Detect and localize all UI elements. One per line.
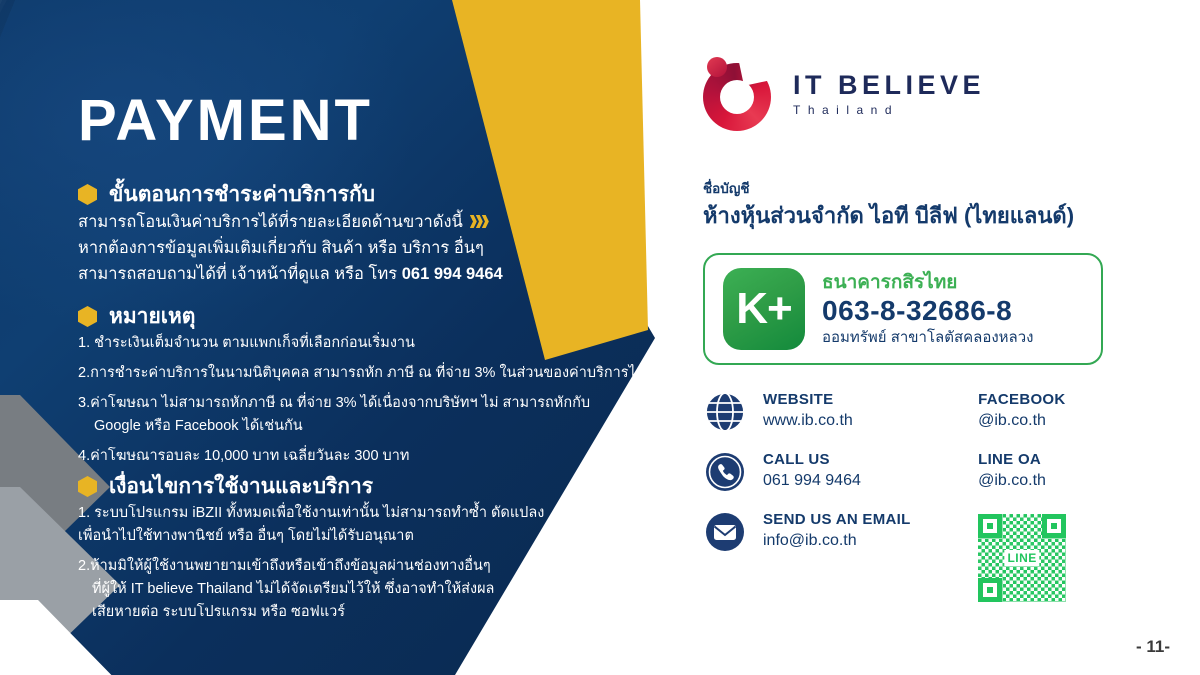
list-item: 2.ห้ามมิให้ผู้ใช้งานพยายามเข้าถึงหรือเข้… — [78, 555, 544, 578]
contact-row-website: WEBSITE www.ib.co.th FACEBOOK @ib.co.th — [703, 390, 1133, 434]
list-item: เพื่อนำไปใช้ทางพานิชย์ หรือ อื่นๆ โดยไม่… — [78, 525, 544, 548]
payment-steps-line-3: สามารถสอบถามได้ที่ เจ้าหน้าที่ดูแล หรือ … — [78, 261, 503, 287]
website-label: WEBSITE — [763, 390, 978, 410]
qr-finder-top-right — [1042, 514, 1066, 538]
section-title-notes: หมายเหตุ — [109, 300, 195, 333]
logo-dot-shape — [707, 57, 727, 77]
email-text: SEND US AN EMAIL info@ib.co.th — [763, 510, 978, 553]
logo-notch-shape — [739, 54, 774, 86]
list-item: 1. ระบบโปรแกรม iBZII ทั้งหมดเพื่อใช้งานเ… — [78, 502, 544, 525]
call-us-value[interactable]: 061 994 9464 — [763, 470, 978, 492]
account-name: ห้างหุ้นส่วนจำกัด ไอที บีลีฟ (ไทยแลนด์) — [703, 198, 1074, 233]
bank-name: ธนาคารกสิรไทย — [822, 271, 1033, 295]
payment-steps-line-1-text: สามารถโอนเงินค่าบริการได้ที่รายละเอียดด้… — [78, 213, 463, 231]
list-item: 2.การชำระค่าบริการในนามนิติบุคคล สามารถห… — [78, 362, 645, 385]
page-title: PAYMENT — [78, 92, 373, 150]
logo-wordmark: IT BELIEVE Thailand — [793, 70, 985, 117]
line-qr-wrap: LINE — [978, 510, 1133, 602]
line-oa-value[interactable]: @ib.co.th — [978, 470, 1133, 492]
email-label: SEND US AN EMAIL — [763, 510, 978, 530]
notes-list: 1. ชำระเงินเต็มจำนวน ตามแพกเก็จที่เลือกก… — [78, 332, 645, 475]
phone-icon — [703, 450, 747, 494]
section-heading-payment-steps: ขั้นตอนการชำระค่าบริการกับ — [78, 178, 375, 211]
payment-slide: PAYMENT ขั้นตอนการชำระค่าบริการกับ สามาร… — [0, 0, 1200, 675]
line-oa-label: LINE OA — [978, 450, 1133, 470]
facebook-label: FACEBOOK — [978, 390, 1133, 410]
contact-section: WEBSITE www.ib.co.th FACEBOOK @ib.co.th … — [703, 390, 1133, 618]
phone-text: CALL US 061 994 9464 — [763, 450, 978, 493]
line-oa-text: LINE OA @ib.co.th — [978, 450, 1133, 493]
list-item: เสียหายต่อ ระบบโปรแกรม หรือ ซอฟแวร์ — [78, 601, 544, 624]
payment-steps-line-1: สามารถโอนเงินค่าบริการได้ที่รายละเอียดด้… — [78, 209, 488, 236]
bank-account-card: K+ ธนาคารกสิรไทย 063-8-32686-8 ออมทรัพย์… — [703, 253, 1103, 365]
bank-account-type: ออมทรัพย์ สาขาโลตัสคลองหลวง — [822, 328, 1033, 348]
kplus-bank-logo-icon: K+ — [723, 268, 805, 350]
qr-finder-bottom-left — [978, 578, 1002, 602]
hexagon-bullet-icon — [78, 306, 97, 327]
section-heading-terms: เงื่อนไขการใช้งานและบริการ — [78, 470, 373, 503]
bank-details: ธนาคารกสิรไทย 063-8-32686-8 ออมทรัพย์ สา… — [822, 271, 1033, 348]
envelope-icon — [703, 510, 747, 554]
facebook-value[interactable]: @ib.co.th — [978, 410, 1133, 432]
triple-chevron-icon — [470, 210, 488, 236]
payment-steps-line-2: หากต้องการข้อมูลเพิ่มเติมเกี่ยวกับ สินค้… — [78, 235, 484, 261]
support-phone-number: 061 994 9464 — [402, 265, 503, 283]
website-text: WEBSITE www.ib.co.th — [763, 390, 978, 433]
terms-list: 1. ระบบโปรแกรม iBZII ทั้งหมดเพื่อใช้งานเ… — [78, 502, 544, 631]
section-title-terms: เงื่อนไขการใช้งานและบริการ — [109, 470, 373, 503]
facebook-text: FACEBOOK @ib.co.th — [978, 390, 1133, 433]
bank-account-number: 063-8-32686-8 — [822, 294, 1033, 328]
hexagon-bullet-icon — [78, 184, 97, 205]
section-title-payment-steps: ขั้นตอนการชำระค่าบริการกับ — [109, 178, 375, 211]
list-item: Google หรือ Facebook ได้เช่นกัน — [78, 415, 645, 438]
qr-line-label: LINE — [1004, 550, 1039, 566]
list-item: 3.ค่าโฆษณา ไม่สามารถหักภาษี ณ ที่จ่าย 3%… — [78, 392, 645, 415]
list-item: 1. ชำระเงินเต็มจำนวน ตามแพกเก็จที่เลือกก… — [78, 332, 645, 355]
qr-finder-top-left — [978, 514, 1002, 538]
page-number: - 11- — [1136, 637, 1170, 657]
website-value[interactable]: www.ib.co.th — [763, 410, 978, 432]
logo-company-name: IT BELIEVE — [793, 70, 985, 101]
list-item: ที่ผู้ให้ IT believe Thailand ไม่ได้จัดเ… — [78, 578, 544, 601]
payment-steps-line-3-prefix: สามารถสอบถามได้ที่ เจ้าหน้าที่ดูแล หรือ … — [78, 265, 402, 283]
line-qr-code[interactable]: LINE — [978, 514, 1066, 602]
hexagon-bullet-icon — [78, 476, 97, 497]
globe-icon — [703, 390, 747, 434]
call-us-label: CALL US — [763, 450, 978, 470]
contact-row-email: SEND US AN EMAIL info@ib.co.th LINE — [703, 510, 1133, 602]
email-value[interactable]: info@ib.co.th — [763, 530, 978, 552]
account-label: ชื่อบัญชี — [703, 177, 750, 199]
kplus-glyph: K+ — [723, 268, 805, 350]
section-heading-notes: หมายเหตุ — [78, 300, 195, 333]
list-item: 4.ค่าโฆษณารอบละ 10,000 บาท เฉลี่ยวันละ 3… — [78, 445, 645, 468]
contact-row-phone: CALL US 061 994 9464 LINE OA @ib.co.th — [703, 450, 1133, 494]
ib-logo-mark-icon — [703, 55, 779, 131]
company-logo: IT BELIEVE Thailand — [703, 55, 985, 131]
logo-country-name: Thailand — [793, 103, 985, 117]
